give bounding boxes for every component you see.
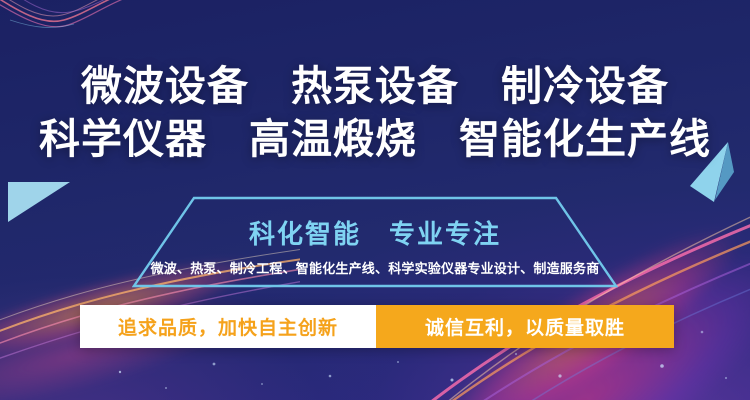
mid-subtitle: 微波、热泵、制冷工程、智能化生产线、科学实验仪器专业设计、制造服务商 — [0, 258, 750, 277]
ribbon-left-slogan[interactable]: 追求品质，加快自主创新 — [80, 305, 376, 348]
headline-line-1: 微波设备 热泵设备 制冷设备 — [0, 62, 750, 110]
headline: 微波设备 热泵设备 制冷设备 科学仪器 高温煅烧 智能化生产线 — [0, 62, 750, 164]
ribbon-right-slogan[interactable]: 诚信互利，以质量取胜 — [376, 305, 674, 348]
mid-block: 科化智能 专业专注 微波、热泵、制冷工程、智能化生产线、科学实验仪器专业设计、制… — [0, 196, 750, 292]
bottom-ribbon: 追求品质，加快自主创新 诚信互利，以质量取胜 — [80, 305, 674, 348]
promo-banner: 微波设备 热泵设备 制冷设备 科学仪器 高温煅烧 智能化生产线 科化智能 专业专… — [0, 0, 750, 400]
mid-slogan: 科化智能 专业专注 — [0, 214, 750, 251]
wave-lines-icon — [0, 0, 180, 56]
headline-line-2: 科学仪器 高温煅烧 智能化生产线 — [0, 115, 750, 163]
